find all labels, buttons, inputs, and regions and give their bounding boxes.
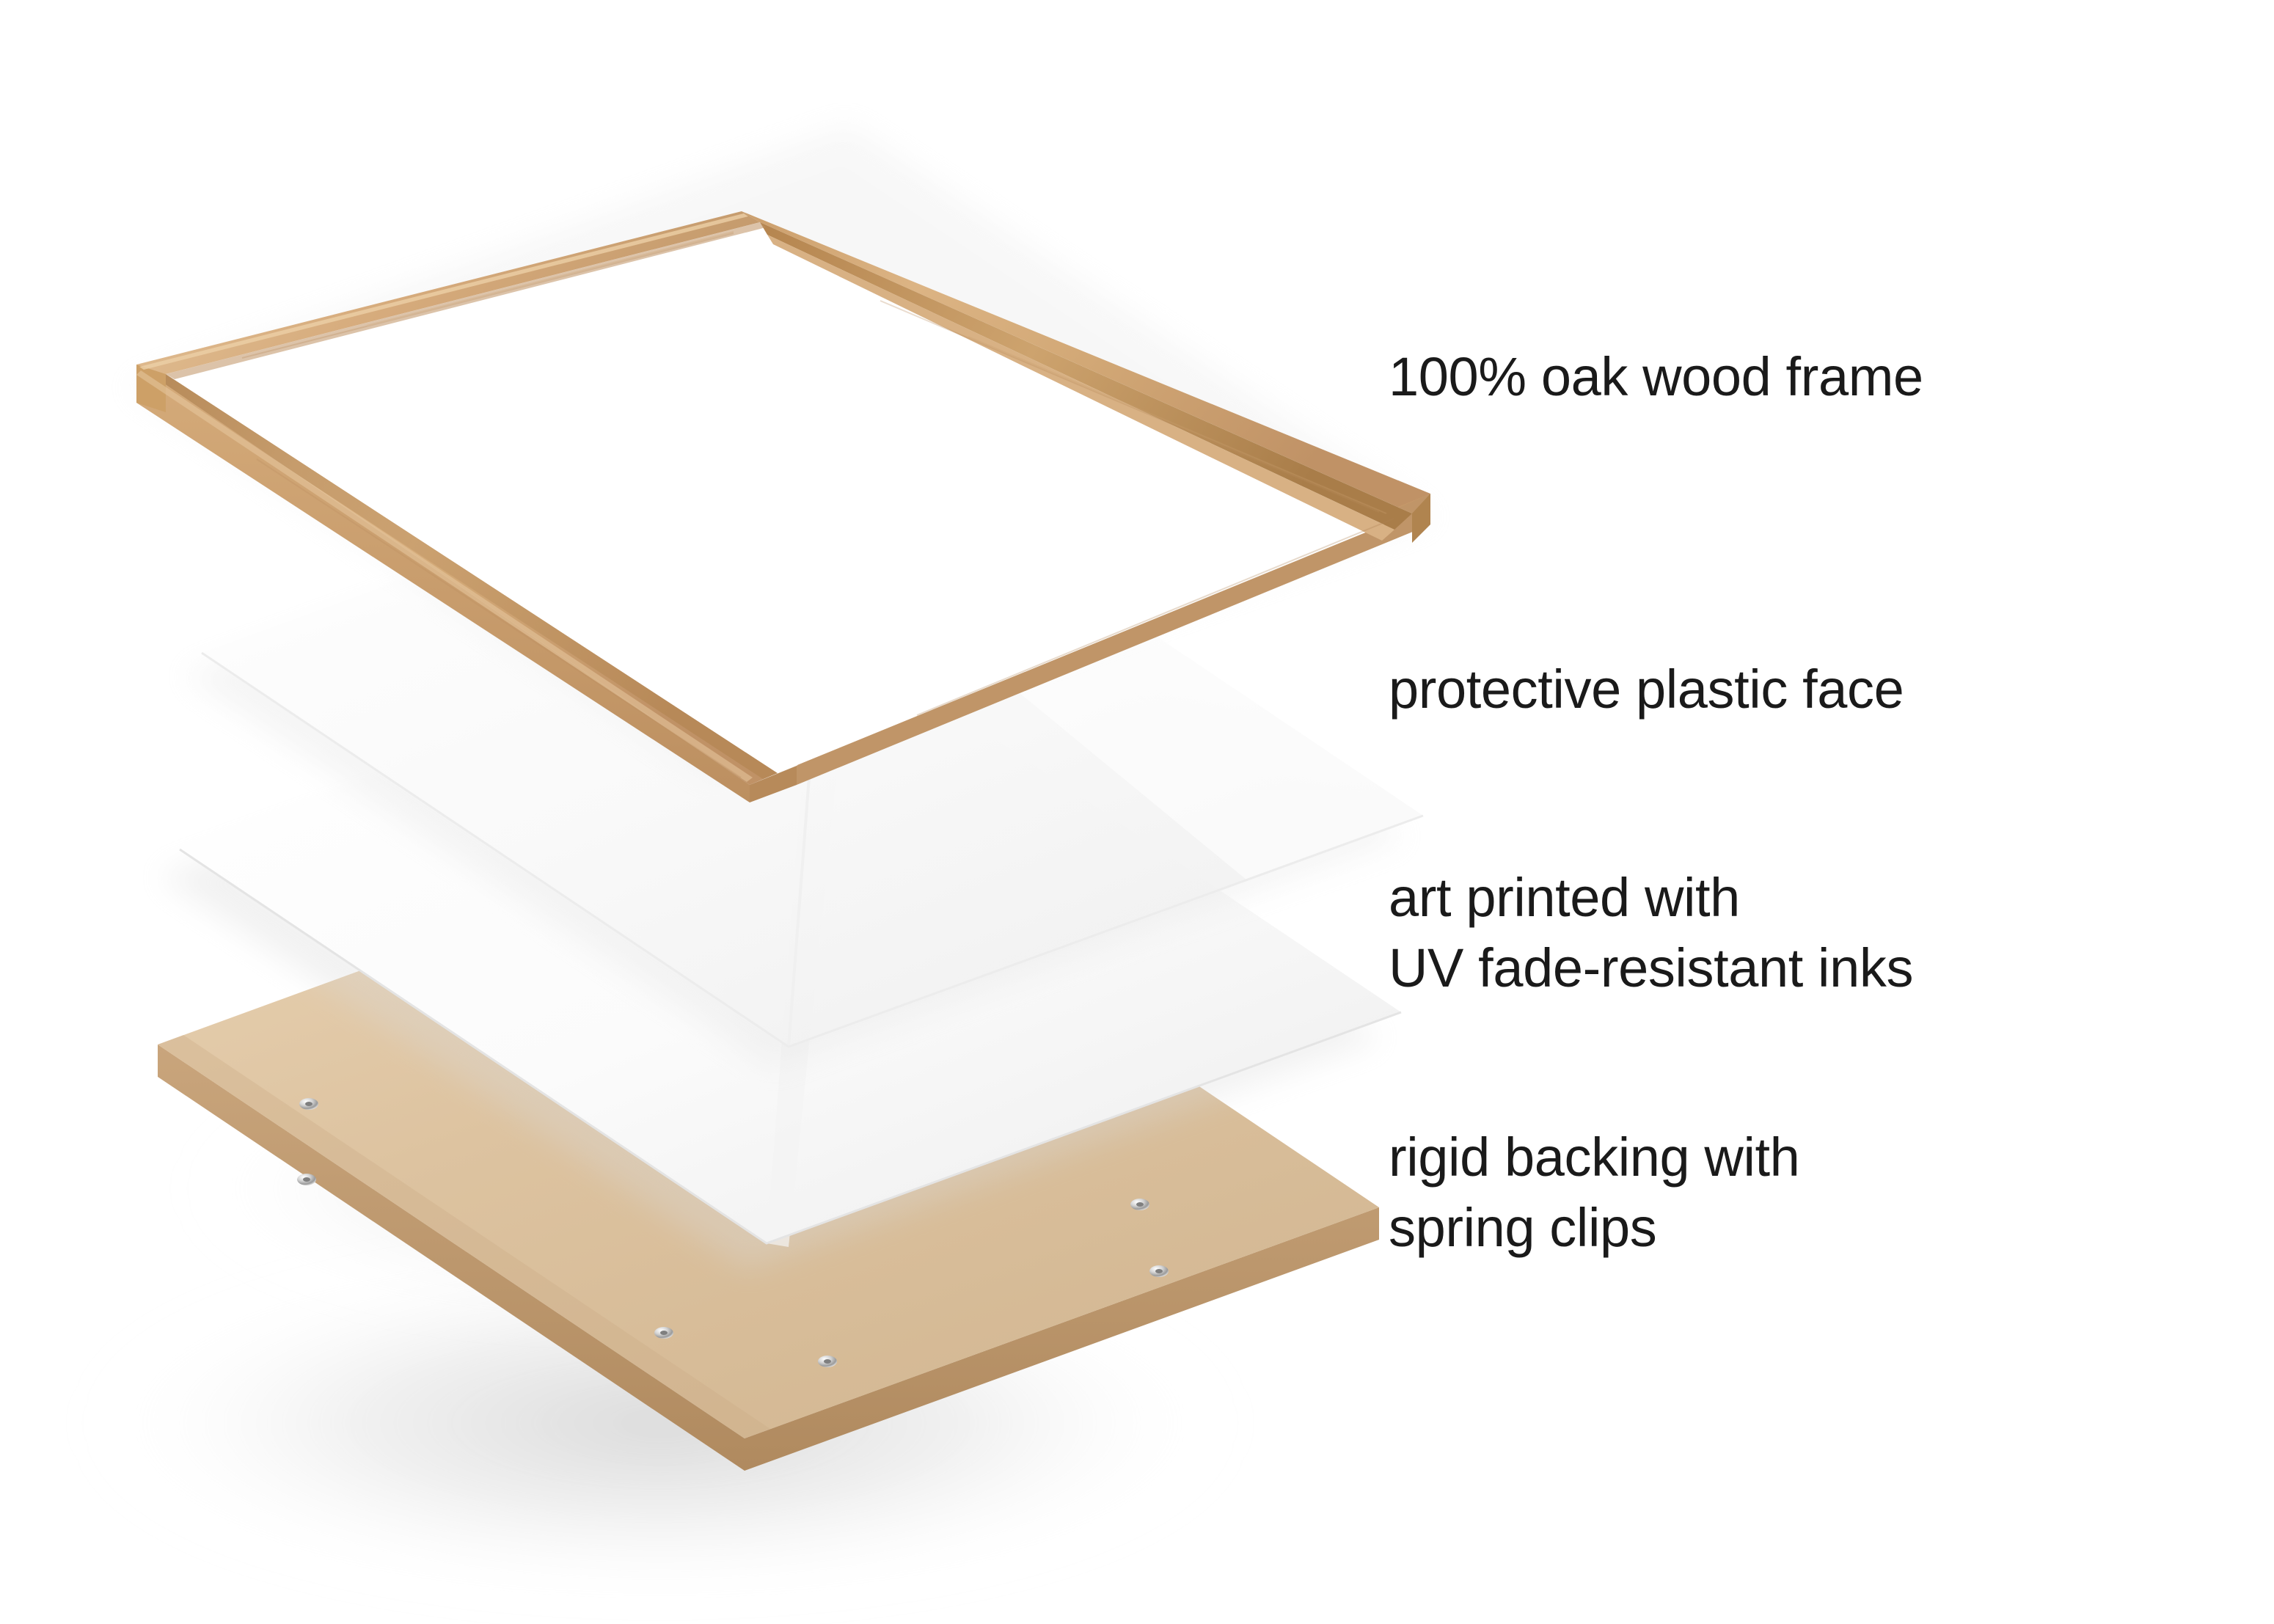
- callout-line: art printed with: [1389, 863, 1913, 933]
- exploded-frame-diagram: 100% oak wood frame protective plastic f…: [0, 0, 2274, 1624]
- spring-clip: [299, 1098, 318, 1110]
- callout-line: protective plastic face: [1389, 654, 1904, 725]
- callout-line: 100% oak wood frame: [1389, 342, 1923, 412]
- callout-protective-plastic-face: protective plastic face: [1389, 654, 1904, 725]
- callout-art-print: art printed with UV fade-resistant inks: [1389, 863, 1913, 1003]
- callout-line: spring clips: [1389, 1193, 1799, 1263]
- spring-clip: [654, 1327, 673, 1339]
- diagram-artwork: [0, 0, 2274, 1624]
- spring-clip: [297, 1174, 316, 1185]
- spring-clip: [818, 1356, 837, 1367]
- callout-oak-wood-frame: 100% oak wood frame: [1389, 342, 1923, 412]
- callout-line: rigid backing with: [1389, 1122, 1799, 1193]
- spring-clip: [1130, 1199, 1149, 1210]
- spring-clip: [1149, 1265, 1169, 1277]
- callout-rigid-backing: rigid backing with spring clips: [1389, 1122, 1799, 1263]
- callout-line: UV fade-resistant inks: [1389, 933, 1913, 1003]
